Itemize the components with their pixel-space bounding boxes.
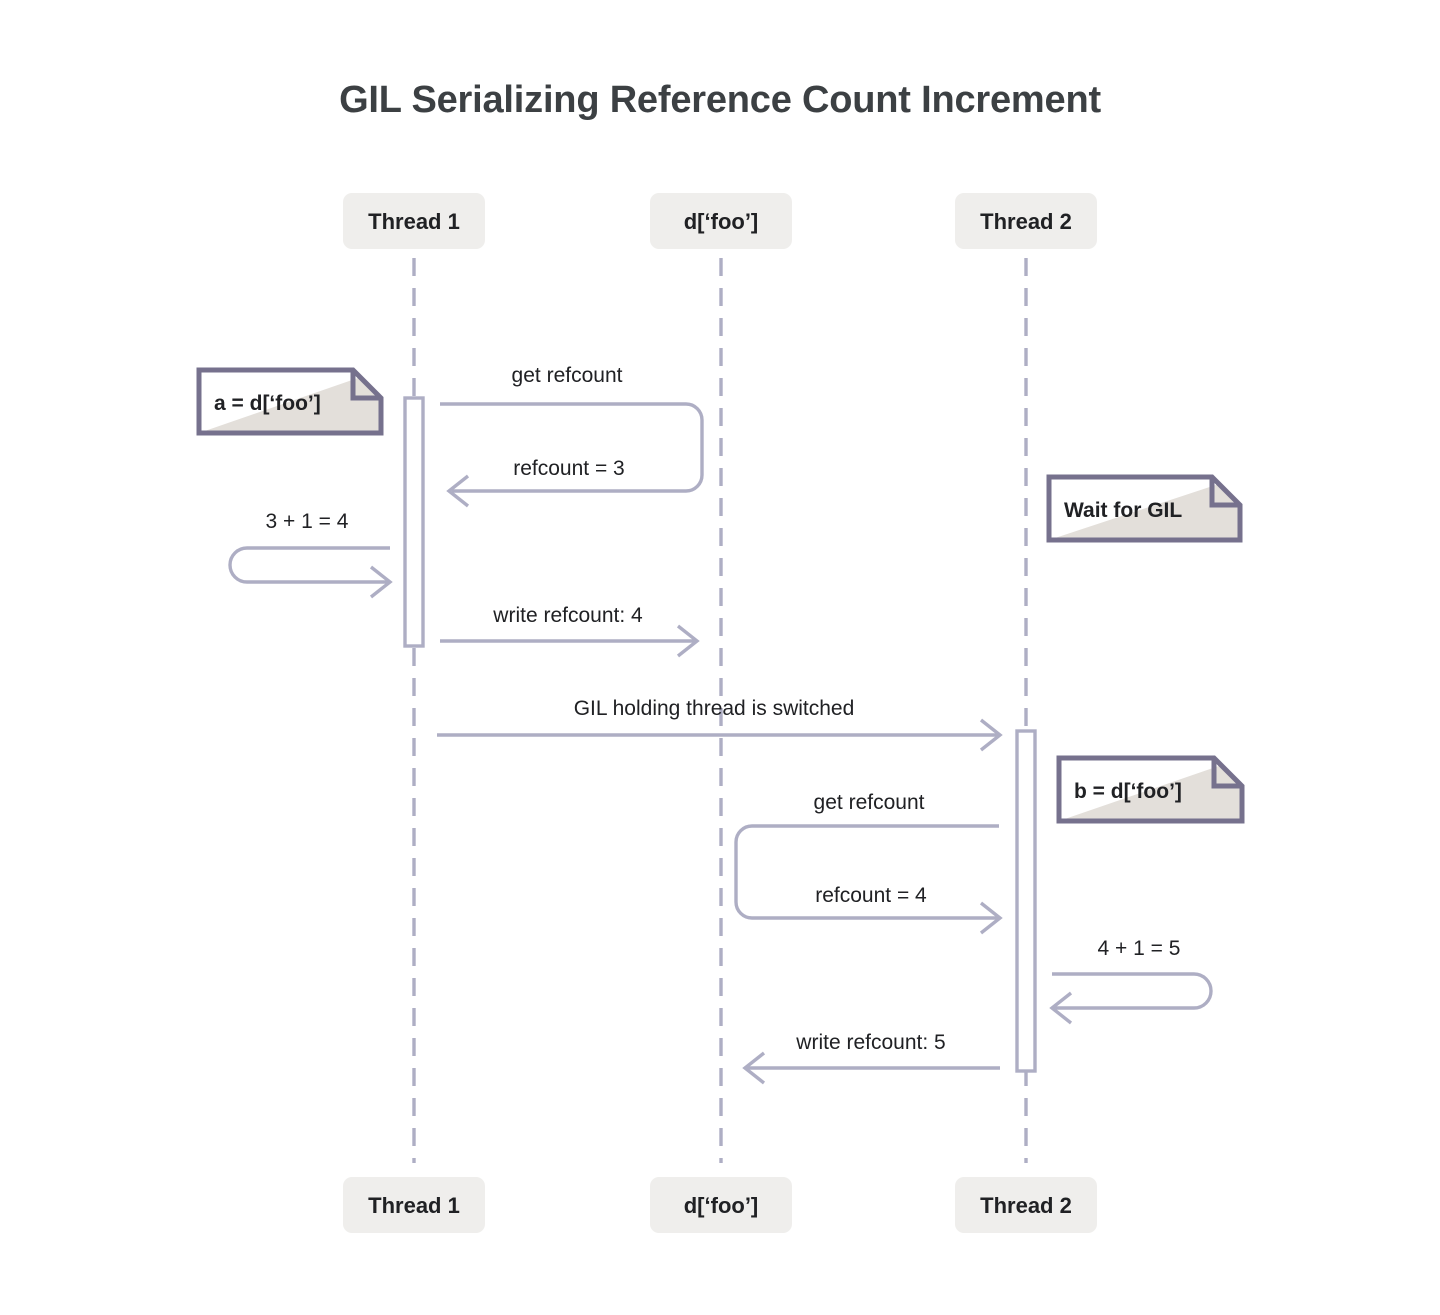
participant-label-thread1: Thread 1	[368, 1193, 460, 1218]
message-label: get refcount	[814, 791, 925, 814]
participant-footer-thread1[interactable]: Thread 1	[343, 1177, 485, 1233]
page-title: GIL Serializing Reference Count Incremen…	[339, 79, 1101, 121]
activation-bar-thread1	[405, 398, 423, 646]
note-b-assign: b = d[‘foo’]	[1059, 758, 1242, 821]
participant-label-thread2: Thread 2	[980, 1193, 1072, 1218]
message-label-refcount-3: refcount = 3	[513, 457, 625, 480]
note-label: b = d[‘foo’]	[1074, 780, 1182, 803]
message-label: 4 + 1 = 5	[1098, 937, 1181, 960]
message-label: get refcount	[512, 364, 623, 387]
note-label: a = d[‘foo’]	[214, 392, 321, 415]
message-label: write refcount: 4	[492, 604, 643, 627]
participant-footer-dfoo[interactable]: d[‘foo’]	[650, 1177, 792, 1233]
participant-label-dfoo: d[‘foo’]	[684, 209, 759, 234]
sequence-diagram: GIL Serializing Reference Count Incremen…	[0, 0, 1440, 1315]
participant-header-thread2[interactable]: Thread 2	[955, 193, 1097, 249]
note-label: Wait for GIL	[1064, 499, 1182, 522]
note-wait-for-gil: Wait for GIL	[1049, 477, 1240, 540]
note-a-assign: a = d[‘foo’]	[199, 370, 381, 433]
message-label-refcount-4: refcount = 4	[815, 884, 927, 907]
participant-header-thread1[interactable]: Thread 1	[343, 193, 485, 249]
message-label: GIL holding thread is switched	[574, 697, 855, 720]
participant-label-thread2: Thread 2	[980, 209, 1072, 234]
participant-header-dfoo[interactable]: d[‘foo’]	[650, 193, 792, 249]
activation-bar-thread2	[1017, 731, 1035, 1071]
message-label: write refcount: 5	[795, 1031, 945, 1054]
participant-label-thread1: Thread 1	[368, 209, 460, 234]
message-label: 3 + 1 = 4	[266, 510, 349, 533]
participant-footer-thread2[interactable]: Thread 2	[955, 1177, 1097, 1233]
participant-label-dfoo: d[‘foo’]	[684, 1193, 759, 1218]
